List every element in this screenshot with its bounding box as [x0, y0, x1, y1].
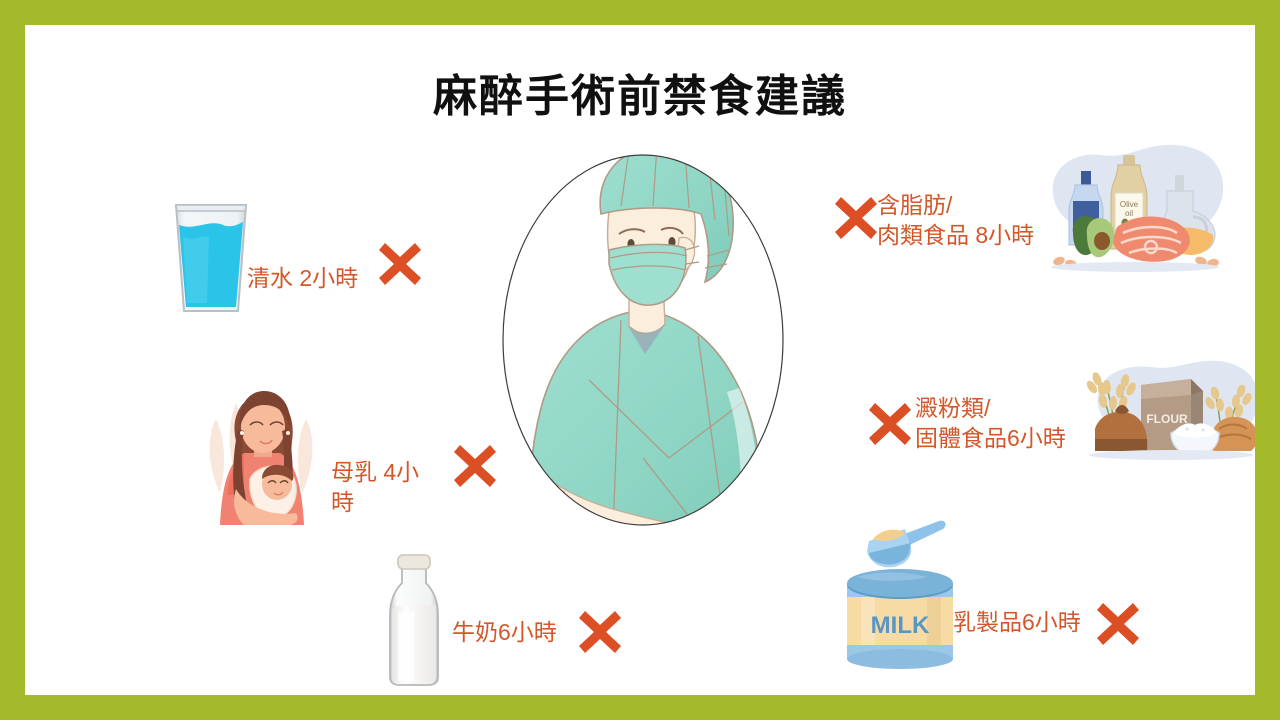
x-mark-milk: [577, 609, 623, 655]
x-mark-water: [377, 241, 423, 287]
milk-bottle-icon: [380, 549, 448, 689]
water-glass-icon: [165, 197, 257, 319]
poster-frame: 麻醉手術前禁食建議: [0, 0, 1280, 720]
olive-oil-label-line2: oil: [1125, 209, 1133, 218]
surgeon-illustration: [493, 140, 793, 540]
mother-baby-icon: [200, 383, 322, 525]
label-milk: 牛奶6小時: [452, 617, 582, 647]
x-mark-breast-milk: [452, 443, 498, 489]
label-breast-milk: 母乳 4小 時: [331, 457, 441, 517]
olive-oil-label-line1: Olive: [1120, 200, 1139, 209]
milk-can-label: MILK: [871, 612, 930, 639]
x-mark-starch: [867, 401, 913, 447]
x-mark-dairy: [1095, 601, 1141, 647]
label-dairy: 乳製品6小時: [953, 607, 1103, 637]
poster-canvas: 麻醉手術前禁食建議: [25, 25, 1255, 695]
flour-bag-label: FLOUR: [1146, 412, 1188, 426]
flour-bread-icon: FLOUR: [1073, 351, 1255, 477]
page-title: 麻醉手術前禁食建議: [25, 60, 1255, 124]
milk-powder-can-icon: MILK: [835, 513, 965, 673]
label-water: 清水 2小時: [247, 263, 397, 293]
fatty-food-icon: Olive oil: [1025, 137, 1247, 277]
x-mark-fatty-meat: [833, 195, 879, 241]
